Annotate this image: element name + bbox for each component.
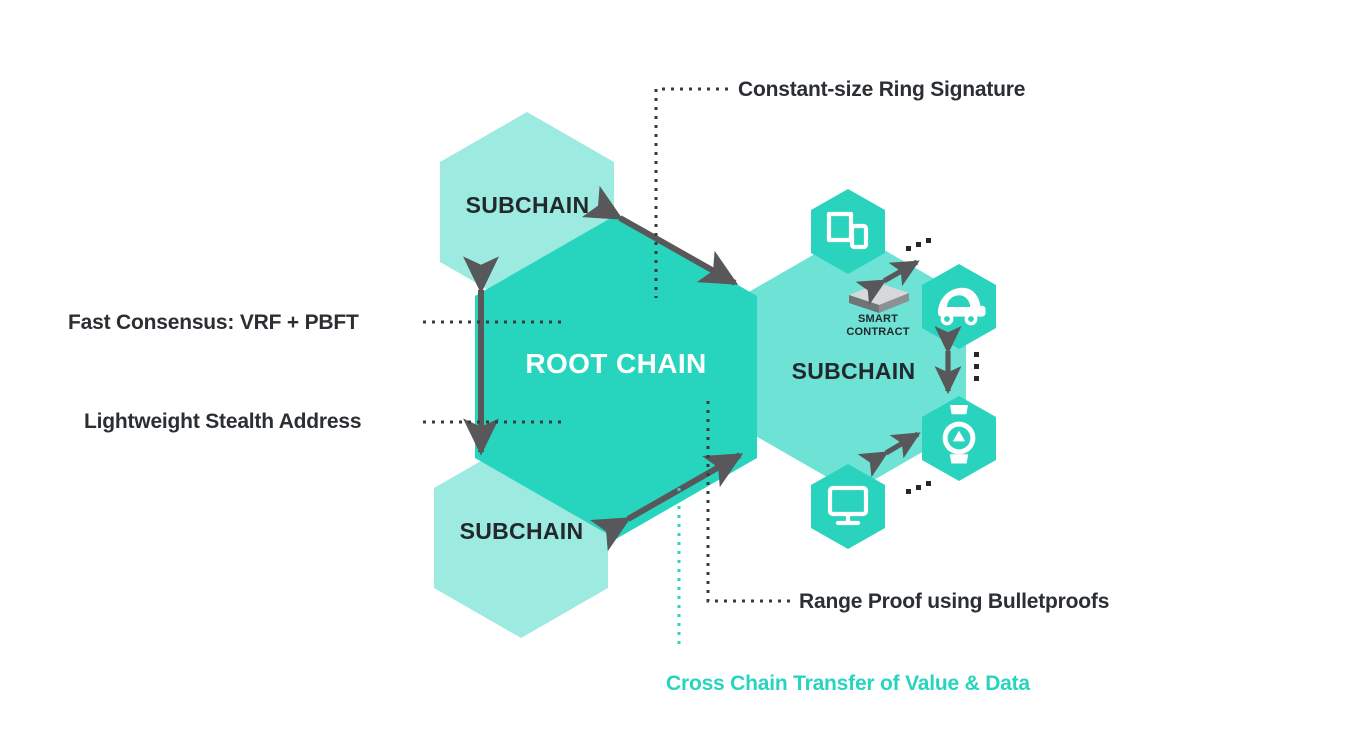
- smart-contract-label-line1: SMART: [818, 313, 938, 326]
- annotation-cross-chain: Cross Chain Transfer of Value & Data: [666, 672, 1030, 696]
- ellipsis-middle-right-icon: [974, 352, 979, 381]
- subchain-top-left-label: SUBCHAIN: [440, 192, 615, 219]
- smart-contract-label: SMART CONTRACT: [818, 313, 938, 339]
- root-chain-label: ROOT CHAIN: [475, 348, 757, 380]
- annotation-range-proof: Range Proof using Bulletproofs: [799, 590, 1109, 614]
- annotation-fast-consensus: Fast Consensus: VRF + PBFT: [68, 311, 359, 335]
- subchain-right-label: SUBCHAIN: [766, 358, 941, 385]
- subchain-bottom-left-label: SUBCHAIN: [434, 518, 609, 545]
- smart-contract-label-line2: CONTRACT: [818, 326, 938, 339]
- diagram-canvas: SUBCHAIN ROOT CHAIN SUBCHAIN SUBCHAIN SM…: [0, 0, 1356, 756]
- ellipsis-bottom-right-icon: [906, 481, 931, 494]
- annotation-stealth-address: Lightweight Stealth Address: [84, 410, 361, 434]
- ellipsis-top-right-icon: [906, 238, 931, 251]
- annotation-ring-signature: Constant-size Ring Signature: [738, 78, 1025, 102]
